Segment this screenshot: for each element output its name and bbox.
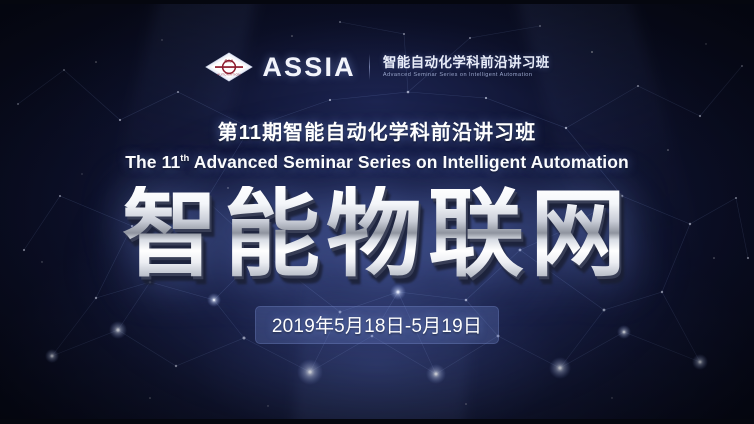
event-date-badge: 2019年5月18日-5月19日 [255,306,499,344]
caa-diamond-eye-emblem-icon: CAA AUTOMATION [204,51,254,83]
event-subtitle-cn: 第11期智能自动化学科前沿讲习班 [218,116,537,145]
letterbox-bar-top [0,0,754,4]
event-subtitle-en-suffix: Advanced Seminar Series on Intelligent A… [189,152,628,172]
event-headline: 智能物联网 [122,186,632,284]
brand-name-block: 智能自动化学科前沿讲习班 Advanced Seminar Series on … [383,56,550,77]
event-subtitle-en: The 11th Advanced Seminar Series on Inte… [125,152,629,173]
brand-lockup: CAA AUTOMATION ASSIA 智能自动化学科前沿讲习班 Advanc… [204,48,549,86]
brand-name-cn: 智能自动化学科前沿讲习班 [383,56,550,70]
svg-text:CAA: CAA [225,58,234,63]
brand-divider [369,54,370,80]
brand-name-en: Advanced Seminar Series on Intelligent A… [383,72,550,78]
assia-wordmark: ASSIA [262,54,356,81]
event-poster: CAA AUTOMATION ASSIA 智能自动化学科前沿讲习班 Advanc… [0,0,754,424]
event-subtitle-en-prefix: The 11 [125,152,180,172]
svg-text:AUTOMATION: AUTOMATION [217,73,241,77]
letterbox-bar-bottom [0,419,754,424]
poster-content: CAA AUTOMATION ASSIA 智能自动化学科前沿讲习班 Advanc… [0,0,754,424]
